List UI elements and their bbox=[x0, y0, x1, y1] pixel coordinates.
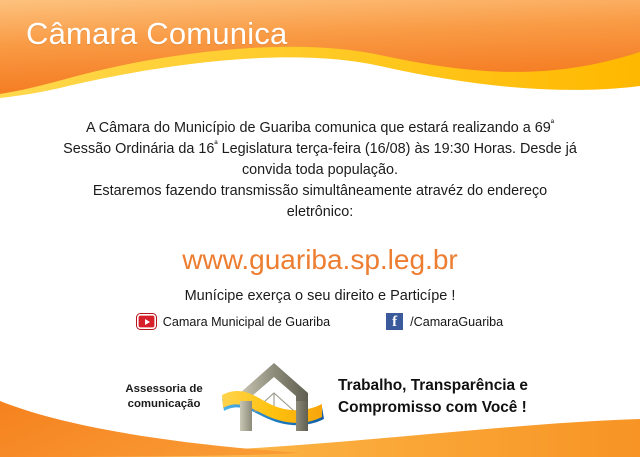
assessoria-label: Assessoria de comunicação bbox=[112, 382, 216, 412]
website-url[interactable]: www.guariba.sp.leg.br bbox=[0, 243, 640, 277]
header-banner: Câmara Comunica bbox=[0, 0, 640, 112]
announcement-text: A Câmara do Município de Guariba comunic… bbox=[28, 118, 612, 223]
youtube-label: Camara Municipal de Guariba bbox=[163, 315, 330, 329]
announcement-line-2: Sessão Ordinária da 16ª Legislatura terç… bbox=[28, 139, 612, 160]
announcement-line-1: A Câmara do Município de Guariba comunic… bbox=[28, 118, 612, 139]
slogan-line-1: Trabalho, Transparência e bbox=[338, 375, 528, 397]
social-link-youtube[interactable]: Camara Municipal de Guariba bbox=[137, 314, 330, 329]
camara-guariba-emblem bbox=[218, 357, 330, 437]
youtube-icon[interactable] bbox=[137, 314, 156, 329]
assessoria-line-2: comunicação bbox=[112, 397, 216, 412]
emblem-post-right bbox=[296, 401, 308, 431]
page-title: Câmara Comunica bbox=[26, 17, 287, 51]
facebook-label: /CamaraGuariba bbox=[410, 315, 503, 329]
social-links: Camara Municipal de Guariba f /CamaraGua… bbox=[0, 313, 640, 330]
participation-tagline: Munícipe exerça o seu direito e Particíp… bbox=[0, 286, 640, 306]
institutional-slogan: Trabalho, Transparência e Compromisso co… bbox=[338, 375, 528, 419]
announcement-line-3: convida toda população. bbox=[28, 160, 612, 181]
announcement-line-4: Estaremos fazendo transmissão simultânea… bbox=[28, 181, 612, 202]
footer-signature: Assessoria de comunicação bbox=[0, 356, 640, 438]
emblem-post-left bbox=[240, 401, 252, 431]
facebook-f-glyph: f bbox=[392, 315, 397, 330]
announcement-line-5: eletrônico: bbox=[28, 202, 612, 223]
slogan-line-2: Compromisso com Você ! bbox=[338, 397, 528, 419]
ordinal-69: ª bbox=[551, 118, 554, 128]
poster-canvas: Câmara Comunica A Câmara do Município de… bbox=[0, 0, 640, 457]
play-triangle-icon bbox=[145, 319, 150, 325]
facebook-icon[interactable]: f bbox=[386, 313, 403, 330]
social-link-facebook[interactable]: f /CamaraGuariba bbox=[386, 313, 503, 330]
assessoria-line-1: Assessoria de bbox=[112, 382, 216, 397]
